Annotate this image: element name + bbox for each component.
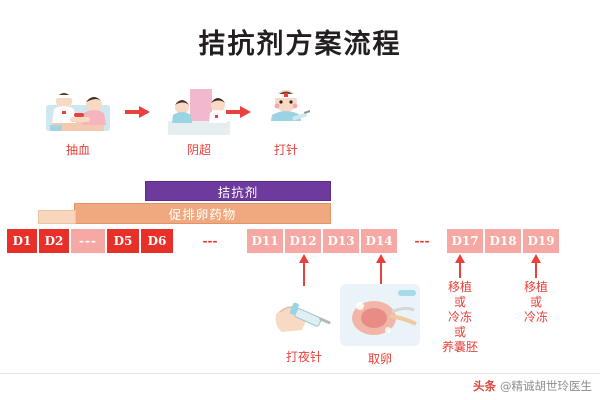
day-cell-d12[interactable]: D12 (284, 228, 322, 254)
day-cell-d2[interactable]: D2 (38, 228, 70, 254)
step-illustration-blood-draw: 抽血 (44, 85, 112, 137)
day-cell-d19[interactable]: D19 (522, 228, 560, 254)
diagram-root: 拮抗剂方案流程 抽血 (0, 0, 600, 400)
antagonist-bar-label: 拮抗剂 (218, 182, 259, 201)
antagonist-bar: 拮抗剂 (145, 181, 331, 201)
day-timeline: D1 D2 --- D5 D6 --- D11 D12 D13 D14 --- … (6, 228, 594, 254)
author-label: @精诚胡世玲医生 (500, 378, 592, 394)
callout-transfer-d17-line-4: 养囊胚 (424, 340, 496, 355)
callout-transfer-d17-line-0: 移植 (424, 280, 496, 295)
platform-label: 头条 (473, 378, 496, 394)
day-cell-d1[interactable]: D1 (6, 228, 38, 254)
day-cell-d14[interactable]: D14 (360, 228, 398, 254)
callout-transfer-d19-line-0: 移植 (500, 280, 572, 295)
footer-divider (0, 373, 600, 374)
callout-transfer-d19: 移植 或 冷冻 (500, 280, 572, 325)
arrow-step-2-to-3 (240, 106, 251, 118)
day-cell-d17[interactable]: D17 (446, 228, 484, 254)
arrow-to-ovum-pickup (380, 262, 382, 284)
injection-illustration (262, 85, 310, 137)
day-cell-gap-3: --- (398, 228, 446, 254)
arrow-step-1-to-2 (139, 106, 150, 118)
ovulation-drug-extension-bar (38, 210, 76, 224)
callout-transfer-d17-line-3: 或 (424, 325, 496, 340)
callout-label-ovum-pickup: 取卵 (352, 352, 408, 367)
arrow-to-transfer-d19 (535, 262, 537, 278)
callout-transfer-d17: 移植 或 冷冻 或 养囊胚 (424, 280, 496, 355)
footer-watermark: 头条 @精诚胡世玲医生 (473, 378, 592, 394)
syringe-illustration (272, 288, 336, 346)
day-cell-gap-1: --- (70, 228, 106, 254)
page-title: 拮抗剂方案流程 (0, 22, 600, 61)
day-cell-d6[interactable]: D6 (140, 228, 174, 254)
ultrasound-illustration (168, 85, 230, 137)
step-illustration-ultrasound: 阴超 (168, 85, 230, 137)
callout-label-trigger-shot: 打夜针 (272, 350, 336, 365)
day-cell-d11[interactable]: D11 (246, 228, 284, 254)
callout-transfer-d17-line-2: 冷冻 (424, 310, 496, 325)
callout-transfer-d19-line-1: 或 (500, 295, 572, 310)
day-cell-d13[interactable]: D13 (322, 228, 360, 254)
callout-transfer-d17-line-1: 或 (424, 295, 496, 310)
ovulation-drug-bar: 促排卵药物 (74, 203, 331, 224)
day-cell-d18[interactable]: D18 (484, 228, 522, 254)
ovulation-drug-bar-label: 促排卵药物 (169, 204, 237, 223)
step-caption-0: 抽血 (44, 141, 112, 158)
arrow-to-transfer-d17 (459, 262, 461, 278)
day-cell-d5[interactable]: D5 (106, 228, 140, 254)
step-caption-2: 打针 (262, 141, 310, 158)
callout-transfer-d19-line-2: 冷冻 (500, 310, 572, 325)
ovum-pickup-illustration (340, 284, 420, 346)
arrow-to-trigger-shot (303, 262, 305, 286)
step-illustration-injection: 打针 (262, 85, 310, 137)
blood-draw-illustration (44, 85, 112, 137)
day-cell-gap-2: --- (174, 228, 246, 254)
step-caption-1: 阴超 (168, 141, 230, 158)
